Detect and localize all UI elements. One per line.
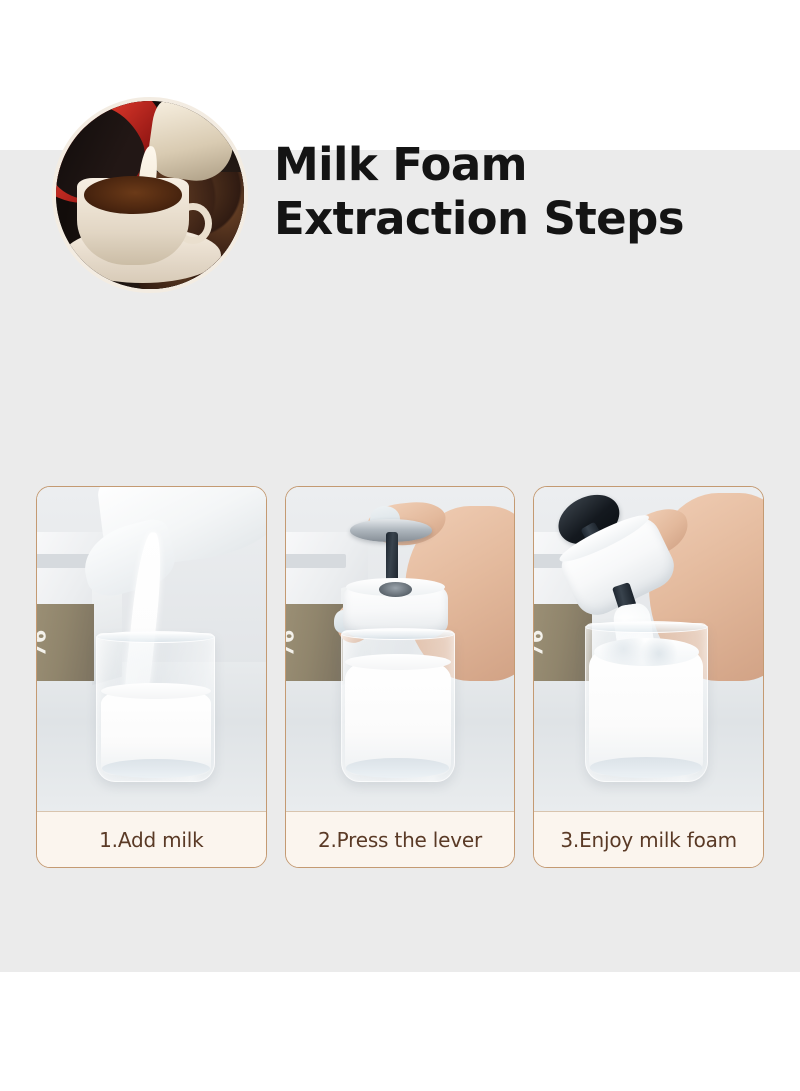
box-label: 76 xyxy=(37,629,50,656)
step-card-1: 76 1.Add milk xyxy=(36,486,267,868)
coffee-surface xyxy=(84,176,182,214)
step-card-2: 76 xyxy=(285,486,516,868)
milk-foam-fill xyxy=(589,646,703,775)
step-3-caption-text: 3.Enjoy milk foam xyxy=(560,828,737,852)
step-3-caption: 3.Enjoy milk foam xyxy=(534,811,763,867)
product-box-tan: 76 xyxy=(534,604,591,682)
step-1-caption-text: 1.Add milk xyxy=(99,828,203,852)
glass-rim xyxy=(585,621,708,633)
hero-coffee-image xyxy=(52,97,248,293)
step-2-caption: 2.Press the lever xyxy=(286,811,515,867)
step-1-caption: 1.Add milk xyxy=(37,811,266,867)
step-1-photo: 76 xyxy=(37,487,266,811)
title-line-2: Extraction Steps xyxy=(274,192,684,246)
glass-base xyxy=(102,759,210,778)
infographic-page: Milk Foam Extraction Steps 76 xyxy=(0,0,800,1091)
glass-tumbler xyxy=(96,633,215,782)
glass-tumbler xyxy=(341,630,455,782)
box-label: 76 xyxy=(534,629,547,656)
glass-rim xyxy=(341,628,455,640)
product-box-tan: 76 xyxy=(37,604,94,682)
steps-row: 76 1.Add milk xyxy=(36,486,764,868)
glass-base xyxy=(346,758,449,778)
glass-rim xyxy=(96,631,215,643)
milk-surface xyxy=(345,654,451,670)
step-card-3: 76 xyxy=(533,486,764,868)
title-line-1: Milk Foam xyxy=(274,138,684,192)
step-2-caption-text: 2.Press the lever xyxy=(318,828,482,852)
glass-base xyxy=(590,757,702,777)
box-label: 76 xyxy=(286,629,299,656)
header: Milk Foam Extraction Steps xyxy=(0,95,800,295)
step-2-photo: 76 xyxy=(286,487,515,811)
glass-tumbler xyxy=(585,623,708,782)
page-title: Milk Foam Extraction Steps xyxy=(274,138,684,253)
milk-surface xyxy=(101,683,211,699)
foam-surface xyxy=(594,638,699,666)
step-3-photo: 76 xyxy=(534,487,763,811)
